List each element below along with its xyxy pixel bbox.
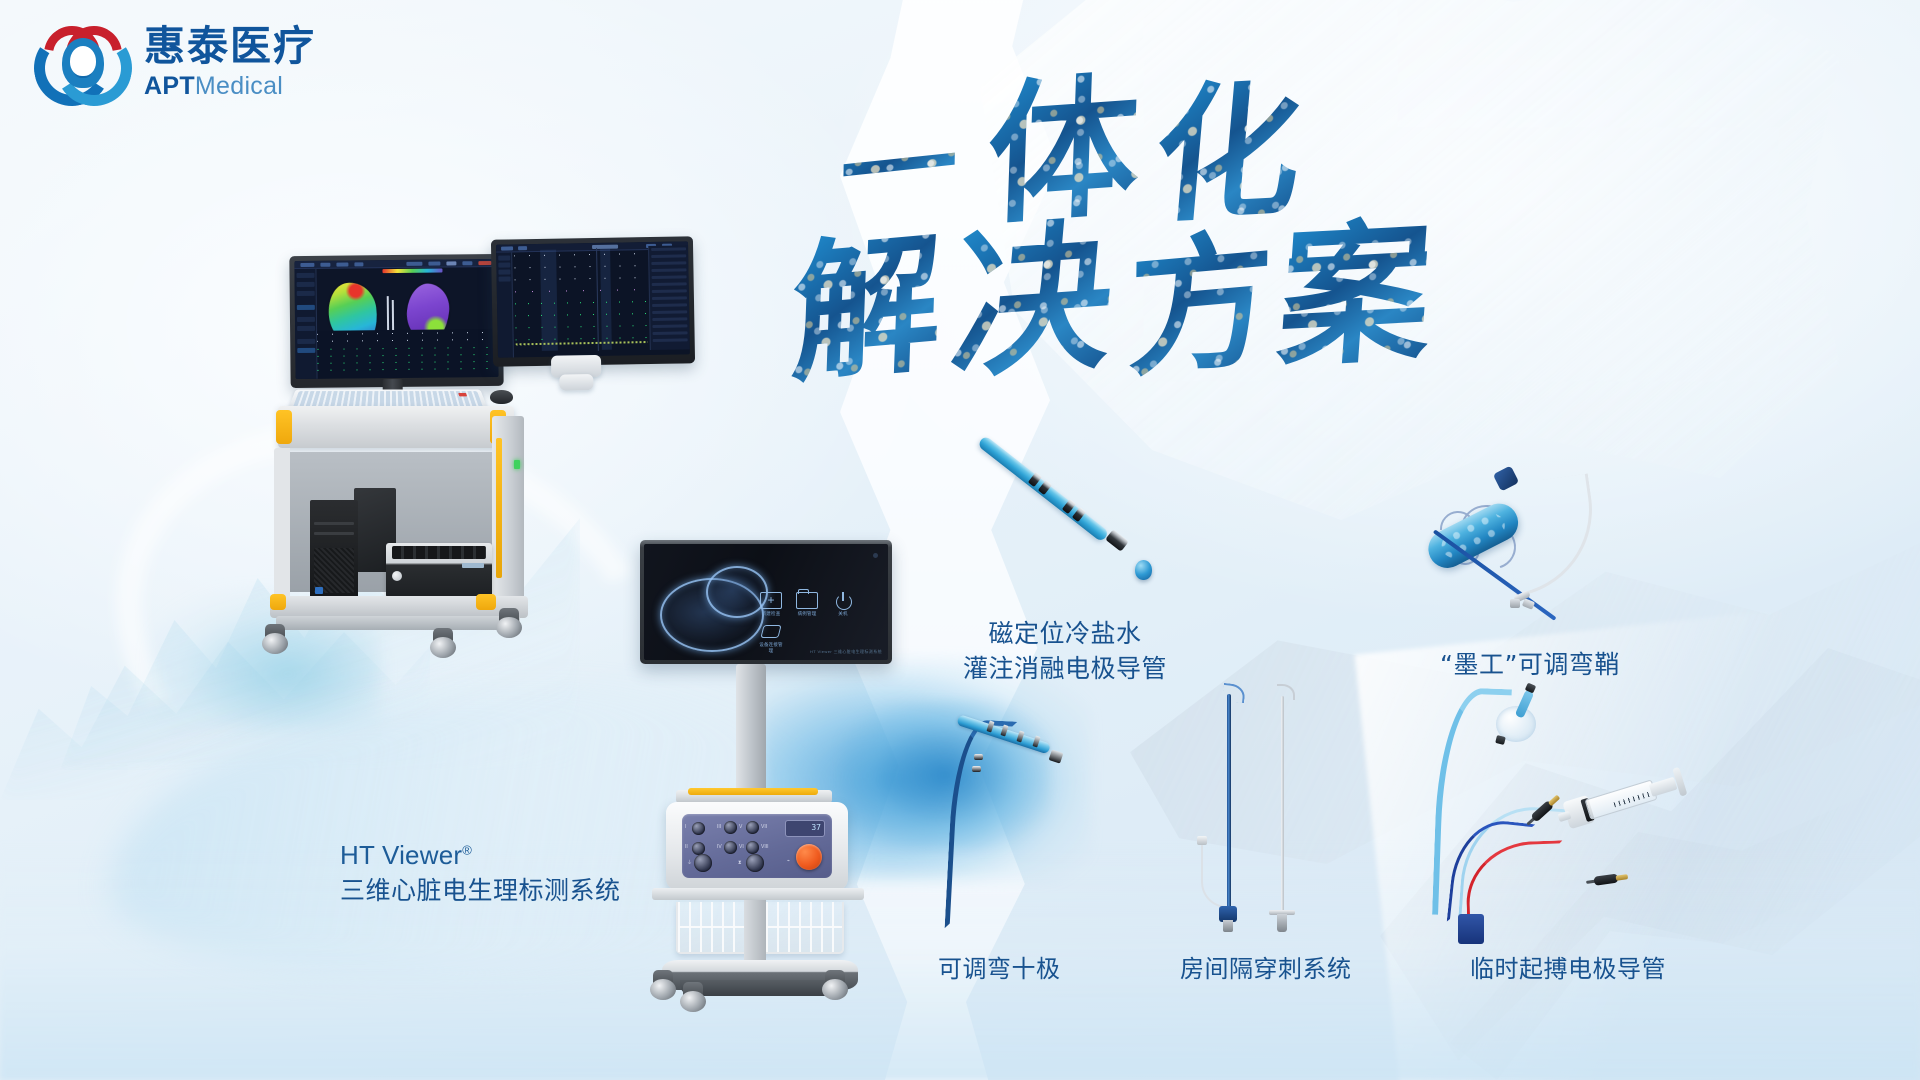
generator-control-panel[interactable]: I II III IV V VI VII VIII 37 ⏚ ⧗ ⌁ — [682, 814, 832, 878]
label-ht-viewer-en: HT Viewer® — [340, 838, 621, 874]
label-ablation-line1: 磁定位冷盐水 — [963, 617, 1167, 652]
brand-wordmark: 惠泰医疗 APTMedical — [144, 26, 316, 99]
ablation-catheter-product — [985, 435, 1185, 615]
connector-port[interactable] — [746, 841, 759, 854]
open-folder-caption: 病例管理 — [794, 611, 820, 617]
calligraphy-char-an: 案 — [1272, 167, 1439, 396]
label-ht-viewer: HT Viewer® 三维心脏电生理标测系统 — [340, 838, 621, 908]
catheter-curved-shaft — [945, 719, 1018, 932]
pc-badge — [315, 587, 323, 594]
cart-post-accent — [496, 438, 502, 578]
port-label: V — [739, 824, 742, 830]
keyboard-shelf — [278, 406, 514, 448]
port-label: III — [717, 824, 721, 830]
camera-dot-icon — [873, 553, 878, 558]
dilator-hub-stem — [1277, 914, 1287, 932]
irrigation-pump-icon[interactable] — [746, 854, 764, 872]
connector-port[interactable] — [724, 821, 737, 834]
open-folder-icon[interactable]: 病例管理 — [794, 592, 820, 617]
lead-connector-block — [1458, 914, 1484, 944]
display-column — [736, 664, 766, 792]
sheath-tube — [1501, 473, 1604, 596]
port-label: II — [685, 844, 688, 850]
monitor-bezel — [289, 254, 503, 388]
catheter-distal-tip — [1135, 560, 1152, 580]
base-bumper-left — [270, 594, 286, 610]
label-pacing-catheter: 临时起搏电极导管 — [1470, 953, 1666, 986]
lead-pin-connector — [1586, 872, 1629, 887]
apt-medical-heart-logo — [36, 20, 128, 104]
mapping-side-rail — [294, 269, 317, 379]
decapolar-catheter-product — [930, 680, 1110, 950]
mapping-screen[interactable] — [294, 259, 498, 379]
keyboard-keys — [293, 391, 483, 407]
headline-calligraphy: 一 体 化 解 决 方 案 — [960, 40, 1640, 350]
network-node-icon[interactable]: 设备连接管理 — [758, 623, 784, 654]
port-label: VI — [739, 844, 744, 850]
inflation-syringe — [1562, 765, 1689, 833]
label-ablation-catheter: 磁定位冷盐水 灌注消融电极导管 — [963, 617, 1167, 686]
power-led-indicator — [514, 460, 520, 469]
port-label: VIII — [761, 844, 769, 850]
recorder-measurement-table — [648, 245, 690, 350]
recorder-lead-list — [496, 252, 514, 357]
printer — [386, 543, 492, 598]
rf-power-button[interactable] — [796, 844, 822, 870]
shaft-marker-band — [974, 754, 983, 760]
mapping-toolbar — [294, 259, 497, 269]
trademark-symbol: ® — [462, 842, 472, 857]
startup-icon-row: 新建检查 病例管理 关机 设备连接管理 — [758, 592, 862, 654]
logo-center-inner — [70, 46, 96, 76]
port-label: IV — [717, 844, 722, 850]
generator-shelf — [652, 888, 864, 900]
syringe-plunger — [1649, 777, 1678, 797]
power-caption: 关机 — [830, 611, 856, 617]
port-label: I — [685, 824, 686, 830]
calligraphy-char-fang: 方 — [1126, 181, 1275, 406]
voltage-color-legend — [382, 269, 442, 274]
ecg-recording-screen[interactable] — [496, 241, 690, 357]
brand-name-en-light: Medical — [195, 72, 283, 100]
connector-port[interactable] — [692, 822, 705, 835]
rf-generator-unit: I II III IV V VI VII VIII 37 ⏚ ⧗ ⌁ — [666, 802, 848, 890]
new-patient-icon[interactable]: 新建检查 — [758, 592, 784, 617]
brand-name-en-bold: APT — [144, 72, 195, 100]
steerable-sheath-product — [1420, 455, 1700, 630]
rf-output-icon: ⌁ — [787, 858, 790, 864]
monitor-arm-joint[interactable] — [559, 374, 593, 391]
recording-monitor[interactable] — [491, 236, 695, 367]
port-label: VII — [761, 824, 767, 830]
screen-watermark: HT Viewer 三维心脏电生理标测系统 — [810, 649, 882, 655]
caster-wheel — [822, 970, 848, 1000]
label-steerable-sheath: “墨工”可调弯鞘 — [1440, 648, 1620, 683]
printer-power-button[interactable] — [392, 571, 402, 581]
label-ht-viewer-name: HT Viewer — [340, 840, 462, 870]
caster-wheel — [262, 624, 288, 654]
pacing-catheter-product — [1400, 670, 1700, 950]
display-tray-accent — [688, 788, 818, 795]
heart-display-screen[interactable]: 新建检查 病例管理 关机 设备连接管理 HT Viewer — [644, 544, 888, 660]
power-icon[interactable]: 关机 — [830, 592, 856, 617]
keyboard-red-key[interactable] — [458, 393, 467, 396]
base-bumper-right — [476, 594, 496, 610]
catheter-tip-electrode — [1105, 529, 1129, 552]
printer-paper-tray — [392, 546, 486, 559]
brand-name-cn: 惠泰医疗 — [144, 26, 316, 67]
calligraphy-char-jie: 解 — [788, 181, 945, 413]
caster-wheel — [680, 982, 706, 1012]
mapping-ecg-strip — [317, 329, 498, 379]
catheter-render-2 — [392, 300, 394, 330]
caster-wheel — [430, 628, 456, 658]
catheter-render-1 — [387, 296, 389, 330]
dilator-shaft — [1281, 696, 1284, 916]
calligraphy-char-jue: 决 — [944, 165, 1124, 410]
mapping-monitor[interactable] — [289, 254, 503, 388]
pump-label: ⧗ — [738, 860, 742, 866]
printer-logo — [462, 563, 484, 568]
ground-label: ⏚ — [687, 859, 692, 866]
shaft-marker-band — [972, 766, 981, 772]
label-ablation-line2: 灌注消融电极导管 — [963, 652, 1167, 687]
caster-wheel — [650, 970, 676, 1000]
label-ht-viewer-cn: 三维心脏电生理标测系统 — [340, 874, 621, 909]
display-cart: 新建检查 病例管理 关机 设备连接管理 HT Viewer — [640, 540, 960, 1050]
recorder-traces — [514, 249, 648, 351]
lcd-value: 37 — [811, 823, 821, 832]
needle-curved-tip — [1222, 683, 1246, 703]
sidearm-tubing — [1201, 842, 1231, 908]
cart-center-column — [744, 900, 766, 966]
brand-name-en: APTMedical — [144, 74, 316, 99]
caster-wheel — [496, 608, 522, 638]
heart-display-monitor[interactable]: 新建检查 病例管理 关机 设备连接管理 HT Viewer — [640, 540, 892, 664]
catheter-distal-end — [1049, 749, 1064, 763]
new-patient-caption: 新建检查 — [758, 611, 784, 617]
label-decapolar-catheter: 可调弯十极 — [938, 953, 1061, 986]
monitor-bezel — [491, 236, 695, 367]
pc-tower — [310, 500, 358, 598]
syringe-barrel — [1584, 779, 1657, 820]
connector-port[interactable] — [724, 841, 737, 854]
shelf-bumper-left — [276, 410, 292, 444]
generator-lcd-display: 37 — [785, 820, 825, 837]
brand-logo[interactable]: 惠泰医疗 APTMedical — [36, 20, 316, 104]
ground-icon[interactable] — [694, 854, 712, 872]
hemostasis-valve — [1508, 589, 1536, 611]
cart-leg-bar — [276, 616, 520, 630]
transseptal-system-product — [1195, 680, 1325, 940]
connector-port[interactable] — [746, 821, 759, 834]
sidearm-cap — [1197, 836, 1207, 845]
needle-hub-stem — [1223, 920, 1233, 932]
label-transseptal-system: 房间隔穿刺系统 — [1180, 953, 1352, 986]
network-node-caption: 设备连接管理 — [758, 642, 784, 654]
poster-canvas: 惠泰医疗 APTMedical 一 体 化 解 决 方 案 — [0, 0, 1920, 1080]
mouse[interactable] — [490, 390, 513, 404]
dilator-curved-tip — [1277, 684, 1295, 700]
